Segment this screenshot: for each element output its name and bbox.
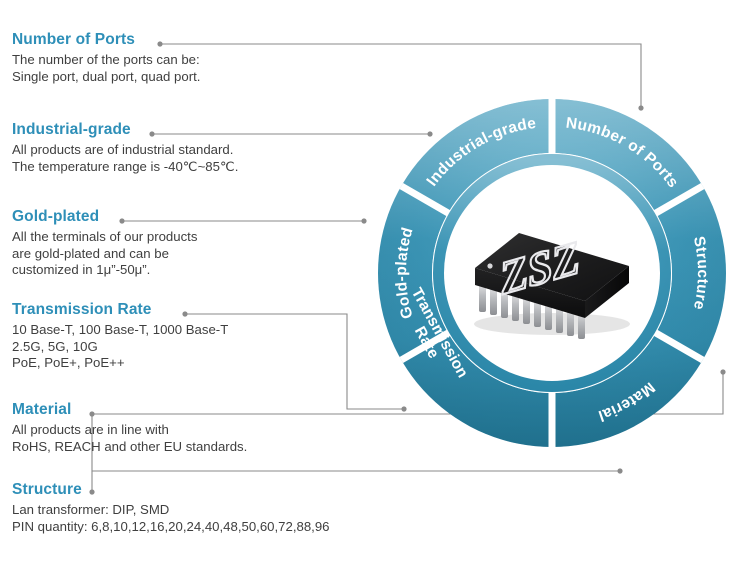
feature-body: 10 Base-T, 100 Base-T, 1000 Base-T 2.5G,… [12, 322, 228, 372]
feature-body: All the terminals of our products are go… [12, 229, 197, 279]
feature-title: Number of Ports [12, 31, 200, 49]
feature-body: Lan transformer: DIP, SMD PIN quantity: … [12, 502, 330, 535]
dot-structure-end [617, 468, 622, 473]
feature-title: Structure [12, 481, 330, 499]
feature-body: All products are in line with RoHS, REAC… [12, 422, 247, 455]
product-image-hub: ZSZ [444, 165, 660, 381]
feature-number-of-ports: Number of Ports The number of the ports … [12, 31, 200, 85]
infographic-root: Number of Ports The number of the ports … [0, 0, 750, 569]
feature-title: Industrial-grade [12, 121, 238, 139]
feature-title: Transmission Rate [12, 301, 228, 319]
feature-transmission-rate: Transmission Rate 10 Base-T, 100 Base-T,… [12, 301, 228, 372]
feature-title: Material [12, 401, 247, 419]
feature-industrial-grade: Industrial-grade All products are of ind… [12, 121, 238, 175]
feature-title: Gold-plated [12, 208, 197, 226]
dot-gold-end [361, 218, 366, 223]
product-chip-icon: ZSZ [457, 198, 647, 348]
feature-body: The number of the ports can be: Single p… [12, 52, 200, 85]
feature-structure: Structure Lan transformer: DIP, SMD PIN … [12, 481, 330, 535]
chip-pin1-marker [487, 263, 492, 268]
feature-gold-plated: Gold-plated All the terminals of our pro… [12, 208, 197, 279]
feature-wheel: Number of Ports Structure Material Gold-… [378, 99, 726, 447]
feature-body: All products are of industrial standard.… [12, 142, 238, 175]
feature-material: Material All products are in line with R… [12, 401, 247, 455]
